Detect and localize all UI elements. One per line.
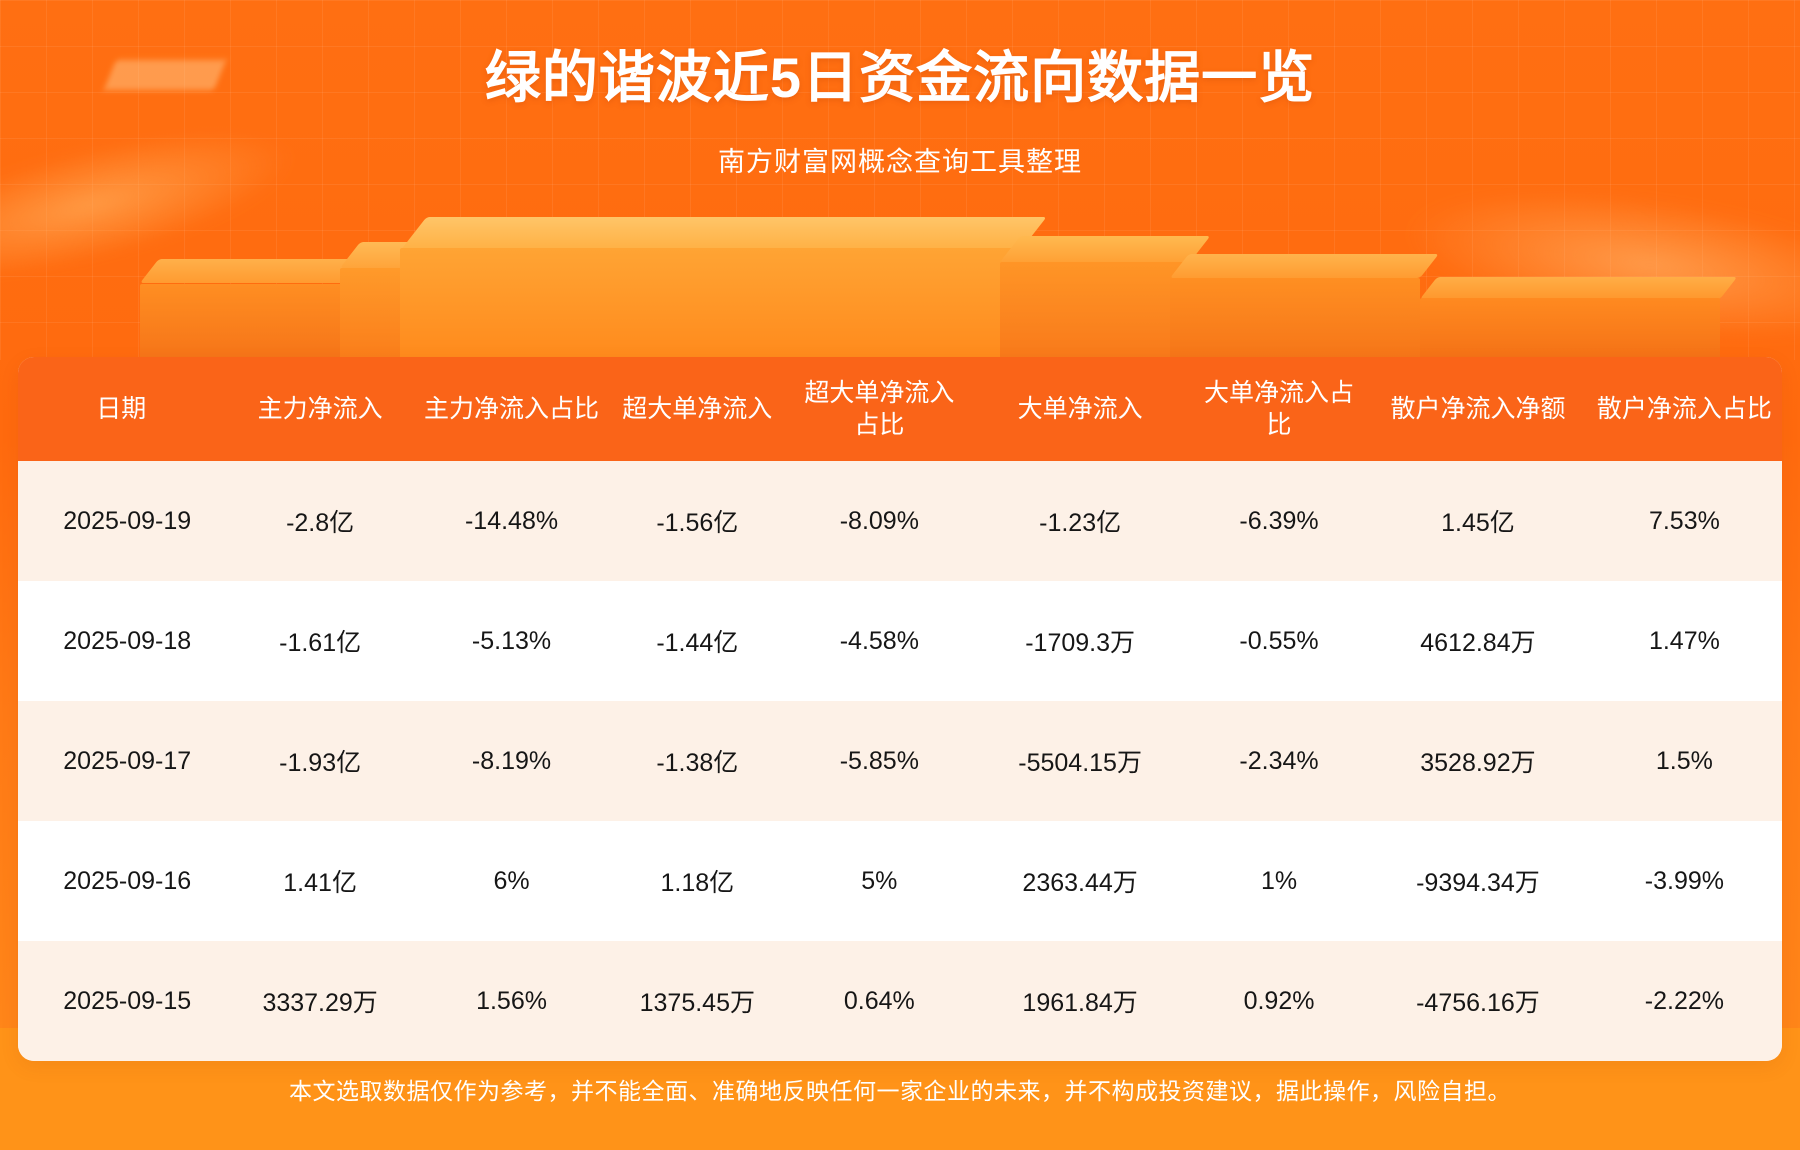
cell-large-pct: -6.39% bbox=[1189, 461, 1369, 581]
table-row: 2025-09-18 -1.61亿 -5.13% -1.44亿 -4.58% -… bbox=[18, 581, 1782, 701]
page-subtitle: 南方财富网概念查询工具整理 bbox=[0, 140, 1800, 179]
column-header-date[interactable]: 日期 bbox=[18, 357, 224, 461]
column-header-retail-pct[interactable]: 散户净流入占比 bbox=[1587, 357, 1782, 461]
cell-xlarge-pct: 0.64% bbox=[787, 941, 971, 1061]
cell-main-net: 1.41亿 bbox=[224, 821, 415, 941]
cell-large-pct: -0.55% bbox=[1189, 581, 1369, 701]
cell-xlarge-pct: 5% bbox=[787, 821, 971, 941]
cell-main-pct: -8.19% bbox=[416, 701, 607, 821]
cell-large-net: -5504.15万 bbox=[971, 701, 1189, 821]
column-header-retail-net[interactable]: 散户净流入净额 bbox=[1369, 357, 1587, 461]
cell-retail-net: 4612.84万 bbox=[1369, 581, 1587, 701]
column-header-large-pct[interactable]: 大单净流入占比 bbox=[1189, 357, 1369, 461]
disclaimer-text: 本文选取数据仅作为参考，并不能全面、准确地反映任何一家企业的未来，并不构成投资建… bbox=[289, 1072, 1511, 1106]
cell-retail-pct: 7.53% bbox=[1587, 461, 1782, 581]
table-header-row: 日期 主力净流入 主力净流入占比 超大单净流入 超大单净流入占比 大单净流入 大… bbox=[18, 357, 1782, 461]
cell-main-net: 3337.29万 bbox=[224, 941, 415, 1061]
cell-large-net: 1961.84万 bbox=[971, 941, 1189, 1061]
cell-large-net: 2363.44万 bbox=[971, 821, 1189, 941]
podium-block-right-outer bbox=[1420, 282, 1720, 360]
cell-date: 2025-09-17 bbox=[18, 701, 224, 821]
cell-date: 2025-09-19 bbox=[18, 461, 224, 581]
cell-xlarge-net: -1.38亿 bbox=[607, 701, 787, 821]
cell-retail-net: -4756.16万 bbox=[1369, 941, 1587, 1061]
column-header-main-pct[interactable]: 主力净流入占比 bbox=[416, 357, 607, 461]
poster-header: 绿的谐波近5日资金流向数据一览 南方财富网概念查询工具整理 bbox=[0, 0, 1800, 179]
podium-block-right-inner bbox=[1000, 242, 1190, 360]
page-title: 绿的谐波近5日资金流向数据一览 bbox=[0, 44, 1800, 112]
cell-xlarge-net: 1375.45万 bbox=[607, 941, 787, 1061]
cell-date: 2025-09-15 bbox=[18, 941, 224, 1061]
cell-large-pct: 0.92% bbox=[1189, 941, 1369, 1061]
cell-large-net: -1.23亿 bbox=[971, 461, 1189, 581]
cell-large-pct: 1% bbox=[1189, 821, 1369, 941]
table-row: 2025-09-15 3337.29万 1.56% 1375.45万 0.64%… bbox=[18, 941, 1782, 1061]
table-row: 2025-09-16 1.41亿 6% 1.18亿 5% 2363.44万 1%… bbox=[18, 821, 1782, 941]
cell-xlarge-net: -1.44亿 bbox=[607, 581, 787, 701]
cell-xlarge-net: 1.18亿 bbox=[607, 821, 787, 941]
cell-retail-pct: -2.22% bbox=[1587, 941, 1782, 1061]
podium-block-left-outer bbox=[140, 265, 370, 360]
poster-root: 绿的谐波近5日资金流向数据一览 南方财富网概念查询工具整理 南方财富网 Sout… bbox=[0, 0, 1800, 1150]
table-row: 2025-09-17 -1.93亿 -8.19% -1.38亿 -5.85% -… bbox=[18, 701, 1782, 821]
cell-retail-net: 3528.92万 bbox=[1369, 701, 1587, 821]
cell-retail-pct: 1.5% bbox=[1587, 701, 1782, 821]
cell-main-pct: 1.56% bbox=[416, 941, 607, 1061]
cell-date: 2025-09-16 bbox=[18, 821, 224, 941]
cell-date: 2025-09-18 bbox=[18, 581, 224, 701]
cell-retail-pct: -3.99% bbox=[1587, 821, 1782, 941]
cell-large-pct: -2.34% bbox=[1189, 701, 1369, 821]
cell-main-pct: 6% bbox=[416, 821, 607, 941]
podium-graphic bbox=[0, 225, 1800, 360]
cell-xlarge-pct: -5.85% bbox=[787, 701, 971, 821]
cell-main-pct: -14.48% bbox=[416, 461, 607, 581]
cell-retail-net: -9394.34万 bbox=[1369, 821, 1587, 941]
cell-retail-pct: 1.47% bbox=[1587, 581, 1782, 701]
column-header-xlarge-net[interactable]: 超大单净流入 bbox=[607, 357, 787, 461]
cell-retail-net: 1.45亿 bbox=[1369, 461, 1587, 581]
cell-xlarge-pct: -8.09% bbox=[787, 461, 971, 581]
cell-main-net: -1.61亿 bbox=[224, 581, 415, 701]
table-body: 2025-09-19 -2.8亿 -14.48% -1.56亿 -8.09% -… bbox=[18, 461, 1782, 1061]
cell-main-net: -2.8亿 bbox=[224, 461, 415, 581]
fund-flow-table: 日期 主力净流入 主力净流入占比 超大单净流入 超大单净流入占比 大单净流入 大… bbox=[18, 357, 1782, 1061]
table-header: 日期 主力净流入 主力净流入占比 超大单净流入 超大单净流入占比 大单净流入 大… bbox=[18, 357, 1782, 461]
cell-large-net: -1709.3万 bbox=[971, 581, 1189, 701]
cell-main-pct: -5.13% bbox=[416, 581, 607, 701]
column-header-large-net[interactable]: 大单净流入 bbox=[971, 357, 1189, 461]
podium-block-center bbox=[400, 225, 1020, 360]
column-header-main-net[interactable]: 主力净流入 bbox=[224, 357, 415, 461]
data-table-card: 南方财富网 Southmoney.com 日期 主力净流入 主力净流入占比 超大… bbox=[18, 357, 1782, 1061]
cell-main-net: -1.93亿 bbox=[224, 701, 415, 821]
column-header-xlarge-pct[interactable]: 超大单净流入占比 bbox=[787, 357, 971, 461]
cell-xlarge-net: -1.56亿 bbox=[607, 461, 787, 581]
cell-xlarge-pct: -4.58% bbox=[787, 581, 971, 701]
podium-block-right-mid bbox=[1170, 260, 1420, 360]
table-row: 2025-09-19 -2.8亿 -14.48% -1.56亿 -8.09% -… bbox=[18, 461, 1782, 581]
